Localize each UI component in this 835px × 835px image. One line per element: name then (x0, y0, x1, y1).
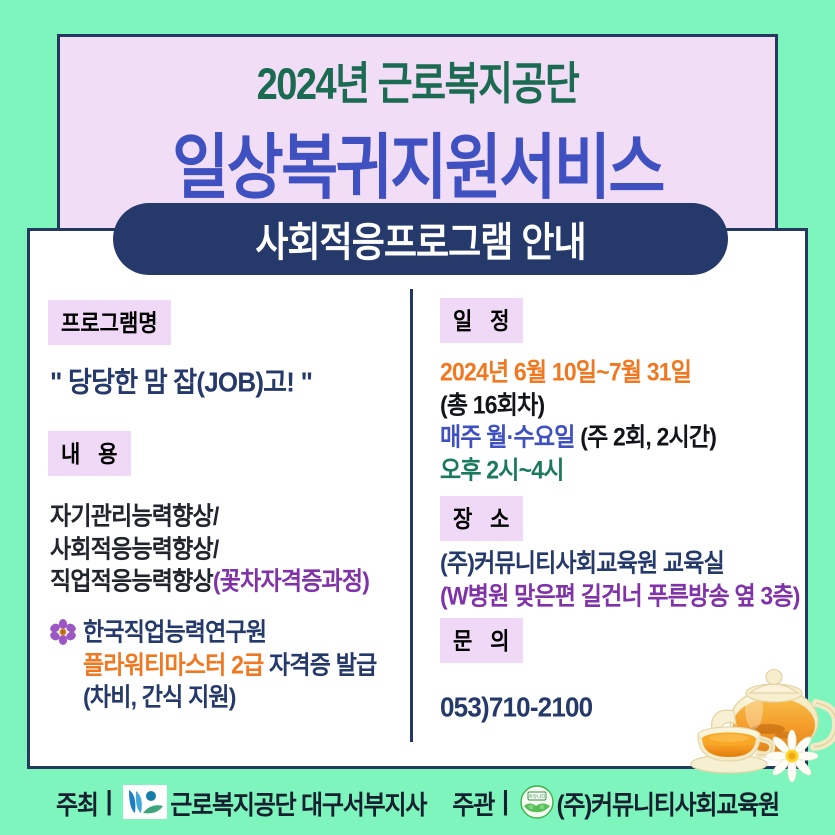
program-name-value: " 당당한 맘 잡(JOB)고! " (50, 364, 312, 401)
community-academy-logo-icon: 커뮤니티 (520, 785, 554, 819)
content-label-badge: 내 용 (48, 433, 131, 474)
schedule-sessions: (총 16회차) (440, 387, 716, 422)
content-line-highlight: (꽃차자격증과정) (213, 567, 369, 595)
page-title-line-1: 2024년 근로복지공단 (60, 47, 775, 112)
schedule-days-line: 매주 월·수요일 (주 2회, 2시간) (440, 420, 716, 455)
contact-label-badge: 문 의 (440, 620, 523, 661)
schedule-time: 오후 2시~4시 (440, 453, 716, 488)
footer-separator: | (106, 787, 112, 818)
contact-label: 문 의 (440, 618, 523, 663)
subtitle-banner: 사회적응프로그램 안내 (113, 203, 728, 275)
schedule-days: 매주 월·수요일 (440, 423, 575, 451)
schedule-label-badge: 일 정 (440, 300, 523, 341)
header-panel: 2024년 근로복지공단 일상복귀지원서비스 (57, 34, 778, 231)
content-line: 자기관리능력향상/ (50, 499, 369, 534)
host-label: 주최 (56, 783, 98, 822)
organizer-name: (주)커뮤니티사회교육원 (557, 783, 779, 822)
komwel-logo-icon (123, 785, 167, 819)
flower-icon (50, 619, 76, 650)
program-name-label-badge: 프로그램명 (48, 302, 171, 343)
location-label: 장 소 (440, 496, 523, 541)
certificate-support: (차비, 간식 지원) (83, 680, 376, 715)
svg-text:커뮤니티: 커뮤니티 (528, 793, 545, 800)
location-line-1: (주)커뮤니티사회교육원 교육실 (440, 546, 800, 581)
footer: 주최 | 근로복지공단 대구서부지사 주관 | 커뮤니티 (주)커뮤니티사회교육… (0, 769, 835, 835)
certificate-name: 플라워티마스터 2급 (83, 651, 263, 679)
contact-phone-value: 053)710-2100 (440, 689, 592, 726)
schedule-period: 2024년 6월 10일~7월 31일 (440, 355, 716, 390)
certificate-suffix: 자격증 발급 (263, 651, 376, 679)
content-lines: 자기관리능력향상/ 사회적응능력향상/ 직업적응능력향상(꽃차자격증과정) (50, 500, 369, 598)
program-name-label: 프로그램명 (48, 300, 171, 345)
schedule-label: 일 정 (440, 298, 523, 343)
schedule-lines: 2024년 6월 10일~7월 31일 (총 16회차) 매주 월·수요일 (주… (440, 356, 716, 487)
footer-separator-2: | (502, 787, 508, 818)
host-name: 근로복지공단 대구서부지사 (170, 783, 426, 822)
certificate-organization: 한국직업능력연구원 (83, 615, 376, 650)
content-line: 사회적응능력향상/ (50, 531, 369, 566)
column-divider (410, 289, 413, 742)
organizer-label: 주관 (452, 783, 494, 822)
content-label: 내 용 (48, 431, 131, 476)
content-line: 직업적응능력향상(꽃차자격증과정) (50, 564, 369, 599)
schedule-days-detail: (주 2회, 2시간) (575, 423, 717, 451)
certificate-block: 한국직업능력연구원 플라워티마스터 2급 자격증 발급 (차비, 간식 지원) (50, 616, 376, 714)
location-line-2: (W병원 맞은편 길건너 푸른방송 옆 3층) (440, 578, 800, 613)
content-line-main: 직업적응능력향상 (50, 567, 213, 595)
location-label-badge: 장 소 (440, 498, 523, 539)
subtitle-text: 사회적응프로그램 안내 (255, 210, 585, 268)
page-title-line-2: 일상복귀지원서비스 (60, 109, 775, 213)
location-lines: (주)커뮤니티사회교육원 교육실 (W병원 맞은편 길건너 푸른방송 옆 3층) (440, 547, 800, 612)
certificate-name-line: 플라워티마스터 2급 자격증 발급 (83, 647, 376, 682)
